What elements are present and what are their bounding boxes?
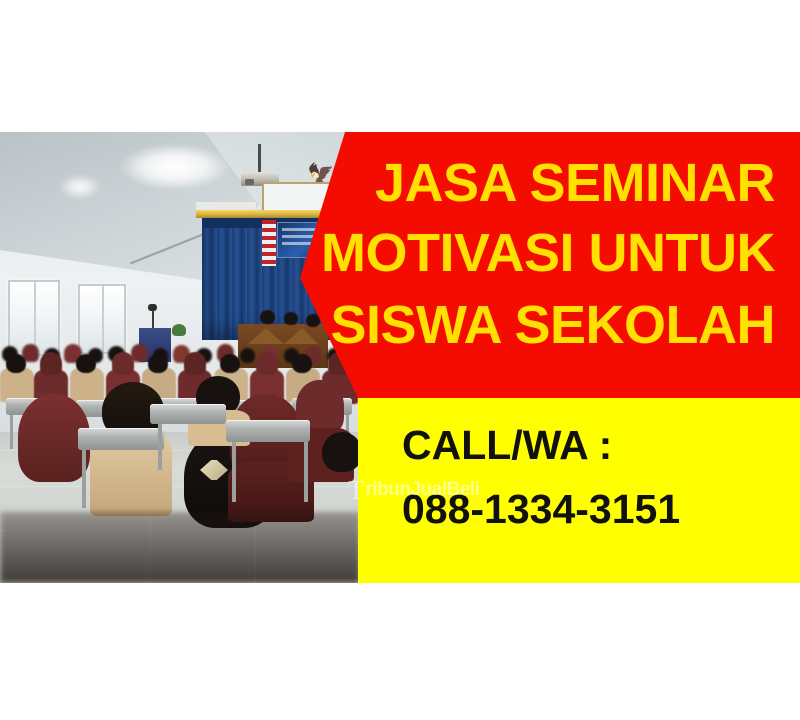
ad-canvas: 🦅	[0, 0, 800, 720]
folding-chair	[150, 404, 226, 424]
headline-line-2: MOTIVASI UNTUK	[321, 222, 775, 284]
advertisement-image: 🦅	[0, 132, 800, 583]
chair-leg	[304, 442, 308, 502]
headline-line-1: JASA SEMINAR	[375, 152, 775, 214]
chair-leg	[158, 424, 162, 470]
headline-text-group: JASA SEMINAR MOTIVASI UNTUK SISWA SEKOLA…	[0, 132, 800, 398]
folding-chair	[226, 420, 310, 442]
contact-label: CALL/WA :	[402, 422, 612, 469]
chair-leg	[232, 442, 236, 502]
yellow-contact-panel: CALL/WA : 088-1334-3151	[358, 398, 800, 583]
headline-line-3: SISWA SEKOLAH	[330, 294, 775, 356]
folding-chair	[78, 428, 164, 450]
foreground-shadow	[0, 512, 360, 583]
contact-phone-number: 088-1334-3151	[402, 486, 680, 533]
chair-leg	[82, 450, 86, 508]
student-head	[322, 432, 362, 472]
